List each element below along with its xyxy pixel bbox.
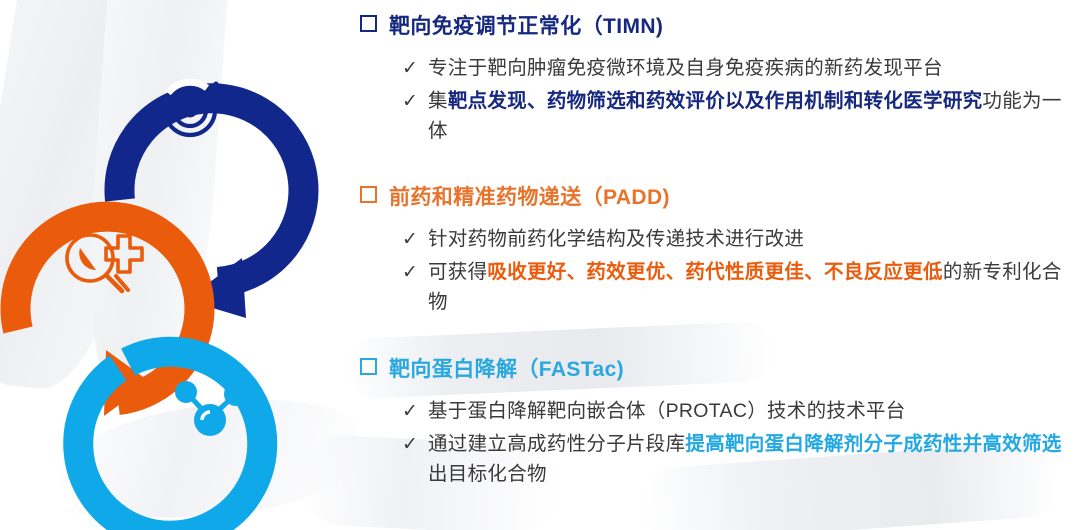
section-padd: 前药和精准药物递送（PADD) ✓ 针对药物前药化学结构及传递技术进行改进 ✓ …: [360, 181, 1080, 320]
list-item-text: 可获得吸收更好、药效更优、药代性质更佳、不良反应更低的新专利化合物: [428, 257, 1080, 317]
check-icon: ✓: [402, 396, 428, 426]
check-icon: ✓: [402, 224, 428, 254]
list-item: ✓ 专注于靶向肿瘤免疫微环境及自身免疫疾病的新药发现平台: [402, 53, 1080, 83]
list-item: ✓ 集靶点发现、药物筛选和药效评价以及作用机制和转化医学研究功能为一体: [402, 86, 1080, 146]
check-icon: ✓: [402, 257, 428, 287]
list-item: ✓ 可获得吸收更好、药效更优、药代性质更佳、不良反应更低的新专利化合物: [402, 257, 1080, 317]
square-bullet-icon: [360, 358, 377, 375]
check-icon: ✓: [402, 86, 428, 116]
bullet-list-padd: ✓ 针对药物前药化学结构及传递技术进行改进 ✓ 可获得吸收更好、药效更优、药代性…: [360, 224, 1080, 317]
list-item: ✓ 基于蛋白降解靶向嵌合体（PROTAC）技术的技术平台: [402, 396, 1080, 426]
list-item-text: 通过建立高成药性分子片段库提高靶向蛋白降解剂分子成药性并高效筛选出目标化合物: [428, 429, 1080, 489]
section-heading-fastac: 靶向蛋白降解（FASTac): [360, 353, 1080, 383]
list-item-text: 基于蛋白降解靶向嵌合体（PROTAC）技术的技术平台: [428, 396, 906, 426]
slide-canvas: 靶向免疫调节正常化（TIMN) ✓ 专注于靶向肿瘤免疫微环境及自身免疫疾病的新药…: [0, 0, 1080, 530]
section-heading-text: 前药和精准药物递送（PADD): [389, 181, 670, 211]
list-item: ✓ 针对药物前药化学结构及传递技术进行改进: [402, 224, 1080, 254]
cycle-diagram: [0, 0, 350, 530]
section-fastac: 靶向蛋白降解（FASTac) ✓ 基于蛋白降解靶向嵌合体（PROTAC）技术的技…: [360, 353, 1080, 492]
section-timn: 靶向免疫调节正常化（TIMN) ✓ 专注于靶向肿瘤免疫微环境及自身免疫疾病的新药…: [360, 10, 1080, 149]
bullet-list-timn: ✓ 专注于靶向肿瘤免疫微环境及自身免疫疾病的新药发现平台 ✓ 集靶点发现、药物筛…: [360, 53, 1080, 146]
list-item: ✓ 通过建立高成药性分子片段库提高靶向蛋白降解剂分子成药性并高效筛选出目标化合物: [402, 429, 1080, 489]
section-heading-timn: 靶向免疫调节正常化（TIMN): [360, 10, 1080, 40]
section-heading-text: 靶向蛋白降解（FASTac): [389, 353, 624, 383]
section-heading-padd: 前药和精准药物递送（PADD): [360, 181, 1080, 211]
drug-search-icon: [67, 235, 142, 291]
check-icon: ✓: [402, 429, 428, 459]
section-heading-text: 靶向免疫调节正常化（TIMN): [389, 10, 663, 40]
check-icon: ✓: [402, 53, 428, 83]
list-item-text: 针对药物前药化学结构及传递技术进行改进: [428, 224, 804, 254]
square-bullet-icon: [360, 186, 377, 203]
content-column: 靶向免疫调节正常化（TIMN) ✓ 专注于靶向肿瘤免疫微环境及自身免疫疾病的新药…: [360, 0, 1080, 530]
list-item-text: 集靶点发现、药物筛选和药效评价以及作用机制和转化医学研究功能为一体: [428, 86, 1080, 146]
list-item-text: 专注于靶向肿瘤免疫微环境及自身免疫疾病的新药发现平台: [428, 53, 943, 83]
bullet-list-fastac: ✓ 基于蛋白降解靶向嵌合体（PROTAC）技术的技术平台 ✓ 通过建立高成药性分…: [360, 396, 1080, 489]
molecule-icon: [175, 381, 248, 436]
square-bullet-icon: [360, 15, 377, 32]
